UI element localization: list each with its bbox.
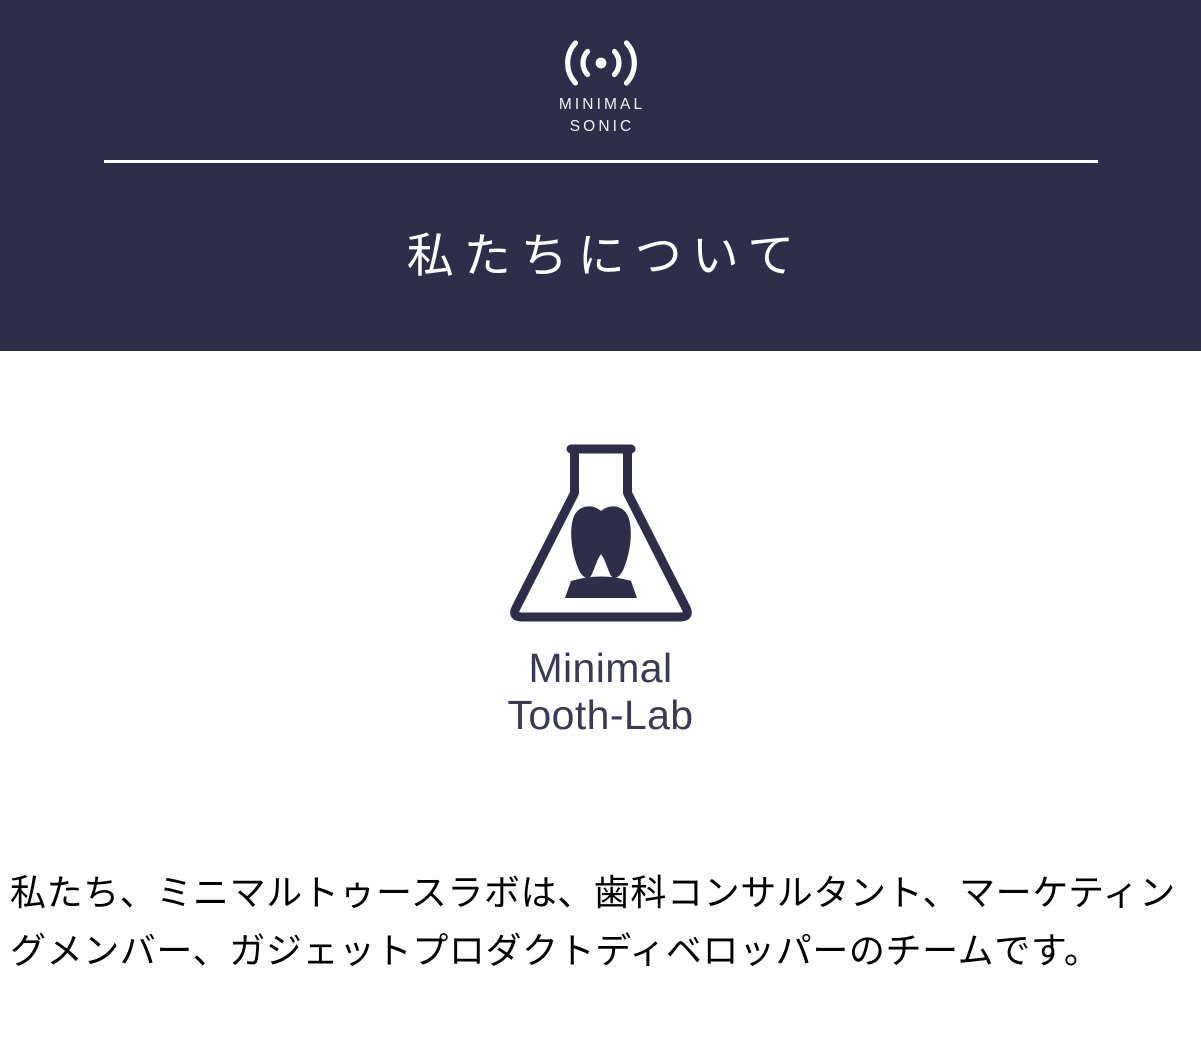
lab-name-line-1: Minimal — [508, 645, 694, 692]
lab-identity-block: Minimal Tooth-Lab — [0, 435, 1201, 738]
sonic-wave-icon — [554, 34, 648, 86]
brand-lockup[interactable]: MINIMAL SONIC — [0, 34, 1201, 138]
lab-name-line-2: Tooth-Lab — [508, 692, 694, 739]
site-header: MINIMAL SONIC 私たちについて — [0, 0, 1201, 351]
header-divider — [104, 160, 1098, 163]
lab-name: Minimal Tooth-Lab — [508, 645, 694, 738]
brand-wordmark: MINIMAL SONIC — [556, 94, 645, 138]
brand-line-secondary: SONIC — [567, 116, 635, 138]
page-title: 私たちについて — [397, 217, 805, 286]
about-page: MINIMAL SONIC 私たちについて Minimal — [0, 0, 1201, 1061]
brand-line-primary: MINIMAL — [556, 94, 645, 116]
flask-tooth-icon — [499, 435, 703, 631]
about-paragraph: 私たち、ミニマルトゥースラボは、歯科コンサルタント、マーケティングメンバー、ガジ… — [10, 864, 1195, 981]
main-content: Minimal Tooth-Lab 私たち、ミニマルトゥースラボは、歯科コンサル… — [0, 351, 1201, 1061]
